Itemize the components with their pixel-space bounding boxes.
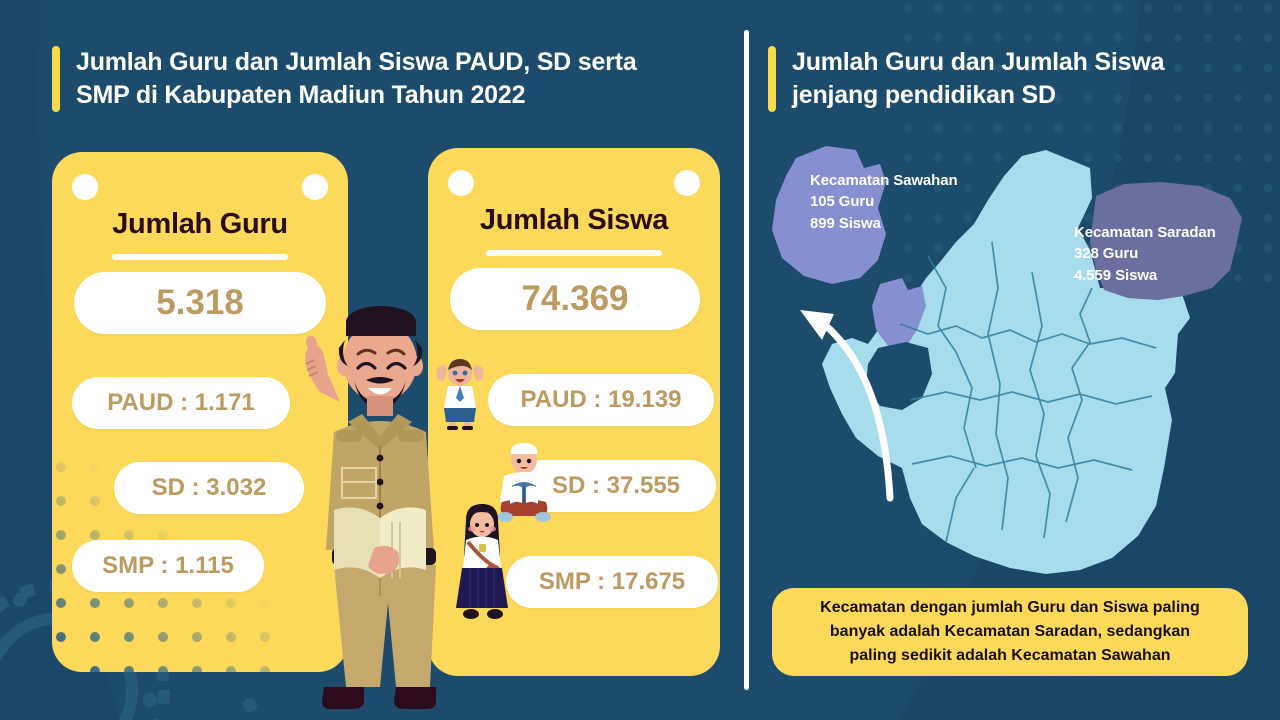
card-title-rule	[112, 254, 288, 260]
map-caption-box: Kecamatan dengan jumlah Guru dan Siswa p…	[772, 588, 1248, 676]
header-right-title: Jumlah Guru dan Jumlah Siswa jenjang pen…	[792, 46, 1164, 112]
card-title-rule	[486, 250, 662, 256]
map-label-saradan: Kecamatan Saradan 328 Guru 4.559 Siswa	[1074, 222, 1216, 286]
card-title-jumlah-siswa: Jumlah Siswa	[428, 204, 720, 237]
header-left: Jumlah Guru dan Jumlah Siswa PAUD, SD se…	[52, 46, 732, 112]
card-punch-hole-right	[302, 174, 328, 200]
siswa-total-value: 74.369	[450, 268, 700, 330]
card-title-jumlah-guru: Jumlah Guru	[52, 208, 348, 241]
card-punch-hole-right	[674, 170, 700, 196]
header-left-accent-bar	[52, 46, 60, 112]
header-left-title: Jumlah Guru dan Jumlah Siswa PAUD, SD se…	[76, 46, 637, 112]
card-punch-hole-left	[72, 174, 98, 200]
vertical-divider	[744, 30, 749, 690]
card-punch-hole-left	[448, 170, 474, 196]
guru-smp-value: SMP : 1.115	[72, 540, 264, 592]
header-right: Jumlah Guru dan Jumlah Siswa jenjang pen…	[768, 46, 1238, 112]
header-right-accent-bar	[768, 46, 776, 112]
siswa-smp-value: SMP : 17.675	[506, 556, 718, 608]
siswa-paud-value: PAUD : 19.139	[488, 374, 714, 426]
smp-student-illustration	[448, 502, 516, 622]
paud-student-illustration	[428, 358, 492, 430]
guru-paud-value: PAUD : 1.171	[72, 377, 290, 429]
map-label-sawahan: Kecamatan Sawahan 105 Guru 899 Siswa	[810, 170, 958, 234]
